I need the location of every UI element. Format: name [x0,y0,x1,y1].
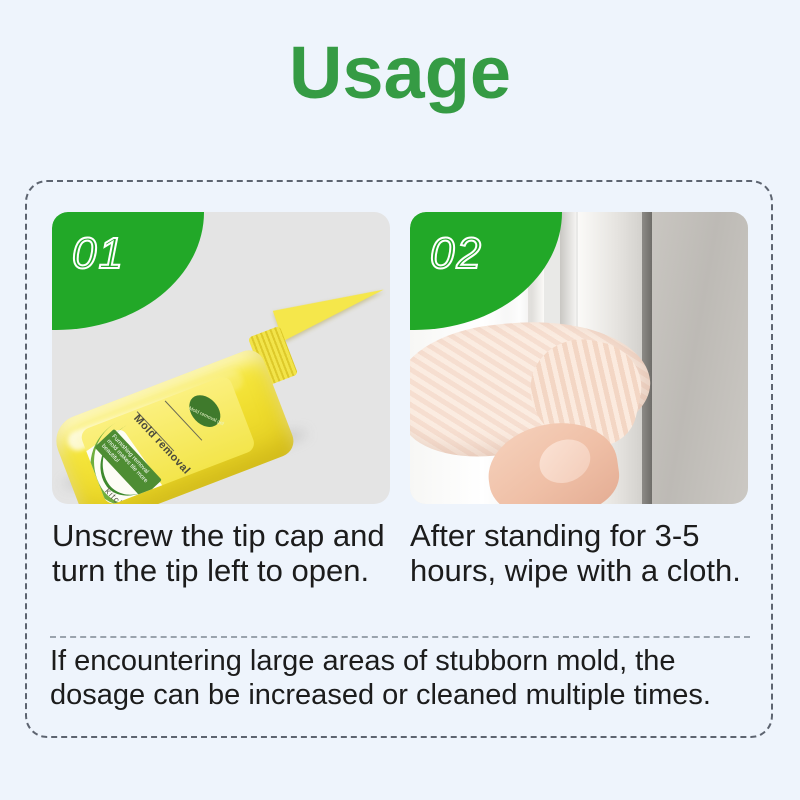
bottle-body: Mold removal gel Furnishing removal mold… [52,346,298,504]
thumbnail [533,432,597,490]
product-badge-text: Mold removal gel [188,406,225,428]
bottle-label: Mold removal gel Furnishing removal mold… [79,374,257,504]
wall-surface [652,212,748,504]
steps-row: Mold removal gel Furnishing removal mold… [52,212,748,588]
step-02: 02 After standing for 3-5 hours, wipe wi… [410,212,748,588]
footnote-text: If encountering large areas of stubborn … [50,645,758,713]
step-01-number: 01 [72,232,125,276]
step-01-photo: Mold removal gel Furnishing removal mold… [52,212,390,504]
step-01: Mold removal gel Furnishing removal mold… [52,212,390,588]
step-02-photo: 02 [410,212,748,504]
bottle-nozzle-tip-icon [273,274,389,341]
step-02-number: 02 [430,232,483,276]
page-title: Usage [0,36,800,110]
product-bottle-illustration: Mold removal gel Furnishing removal mold… [60,308,390,498]
step-01-caption: Unscrew the tip cap and turn the tip lef… [52,518,392,588]
usage-infographic: Usage Mold removal g [0,0,800,800]
step-02-caption: After standing for 3-5 hours, wipe with … [410,518,750,588]
window-seal-strip [642,212,652,504]
footnote-separator [50,636,750,638]
